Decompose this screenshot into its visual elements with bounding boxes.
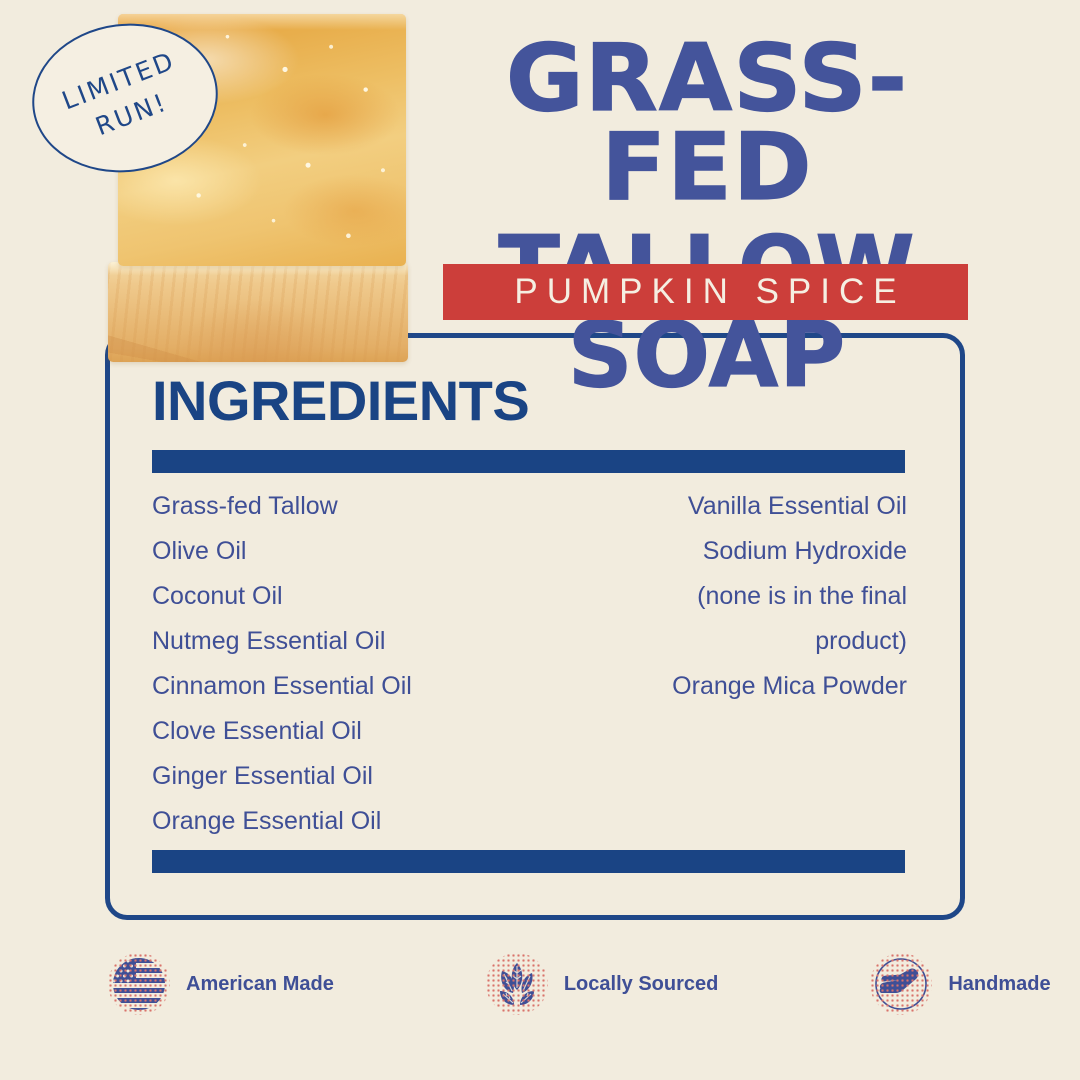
- list-item: Orange Mica Powder: [587, 664, 907, 709]
- page-title: GRASS-FED TALLOW SOAP: [440, 34, 974, 399]
- american-flag-icon: [108, 953, 170, 1015]
- badge-american-made: American Made: [108, 953, 334, 1015]
- list-item: Nutmeg Essential Oil: [152, 619, 572, 664]
- ingredients-column-left: Grass-fed Tallow Olive Oil Coconut Oil N…: [152, 484, 572, 844]
- list-item: Grass-fed Tallow: [152, 484, 572, 529]
- halftone-halo: [870, 953, 932, 1015]
- list-item: Ginger Essential Oil: [152, 754, 572, 799]
- ingredients-heading: INGREDIENTS: [152, 368, 529, 433]
- list-item: Vanilla Essential Oil: [587, 484, 907, 529]
- halftone-halo: [486, 953, 548, 1015]
- list-item: product): [587, 619, 907, 664]
- hand-icon: [870, 953, 932, 1015]
- list-item: Clove Essential Oil: [152, 709, 572, 754]
- list-item: Orange Essential Oil: [152, 799, 572, 844]
- soap-bar-bottom: [108, 262, 408, 362]
- badge-locally-sourced: Locally Sourced: [486, 953, 719, 1015]
- title-line-one: GRASS-FED: [435, 34, 980, 213]
- list-item: Coconut Oil: [152, 574, 572, 619]
- flavor-label: PUMPKIN SPICE: [505, 272, 905, 312]
- divider-bottom: [152, 850, 905, 873]
- ingredients-column-right: Vanilla Essential Oil Sodium Hydroxide (…: [587, 484, 907, 844]
- list-item: Sodium Hydroxide: [587, 529, 907, 574]
- trust-badges: American Made: [100, 946, 990, 1022]
- badge-label: American Made: [186, 973, 334, 996]
- limited-run-badge-text: LIMITED RUN!: [57, 43, 194, 153]
- flavor-banner: PUMPKIN SPICE: [443, 264, 968, 320]
- leaves-icon: [486, 953, 548, 1015]
- list-item: Cinnamon Essential Oil: [152, 664, 572, 709]
- list-item: (none is in the final: [587, 574, 907, 619]
- badge-handmade: Handmade: [870, 953, 1050, 1015]
- poster-canvas: LIMITED RUN! GRASS-FED TALLOW SOAP PUMPK…: [0, 0, 1080, 1080]
- halftone-halo: [108, 953, 170, 1015]
- badge-label: Locally Sourced: [564, 973, 719, 996]
- ingredients-columns: Grass-fed Tallow Olive Oil Coconut Oil N…: [152, 484, 907, 844]
- divider-top: [152, 450, 905, 473]
- list-item: Olive Oil: [152, 529, 572, 574]
- badge-label: Handmade: [948, 973, 1050, 996]
